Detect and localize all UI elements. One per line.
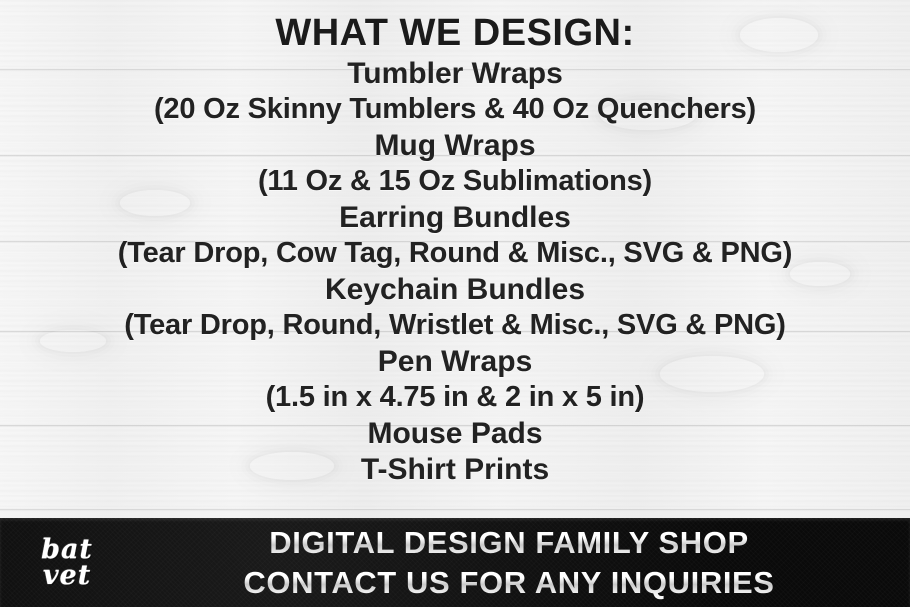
banner-contact-text: CONTACT US FOR ANY INQUIRIES xyxy=(243,563,774,603)
banner-shop-name: DIGITAL DESIGN FAMILY SHOP xyxy=(269,523,749,563)
service-detail-mug-sizes: (11 Oz & 15 Oz Sublimations) xyxy=(258,164,652,199)
service-line-mouse-pads: Mouse Pads xyxy=(367,416,542,453)
service-detail-keychain-types: (Tear Drop, Round, Wristlet & Misc., SVG… xyxy=(124,308,785,343)
service-line-tshirt-prints: T-Shirt Prints xyxy=(361,452,549,489)
service-detail-tumbler-sizes: (20 Oz Skinny Tumblers & 40 Oz Quenchers… xyxy=(154,92,756,127)
service-line-earring-bundles: Earring Bundles xyxy=(339,200,571,237)
poster: WHAT WE DESIGN: Tumbler Wraps (20 Oz Ski… xyxy=(0,0,910,607)
service-line-mug-wraps: Mug Wraps xyxy=(374,128,535,165)
service-line-keychain-bundles: Keychain Bundles xyxy=(325,272,585,309)
banner-text-block: DIGITAL DESIGN FAMILY SHOP CONTACT US FO… xyxy=(120,523,910,602)
page-title: WHAT WE DESIGN: xyxy=(275,14,634,54)
footer-banner: bat vet DIGITAL DESIGN FAMILY SHOP CONTA… xyxy=(0,518,910,607)
service-detail-earring-types: (Tear Drop, Cow Tag, Round & Misc., SVG … xyxy=(118,236,792,271)
brand-logo: bat vet xyxy=(0,537,120,588)
brand-logo-line-1: bat xyxy=(41,537,93,563)
service-detail-pen-sizes: (1.5 in x 4.75 in & 2 in x 5 in) xyxy=(266,380,645,415)
brand-logo-line-2: vet xyxy=(43,563,91,589)
service-line-tumbler-wraps: Tumbler Wraps xyxy=(347,56,563,93)
poster-content: WHAT WE DESIGN: Tumbler Wraps (20 Oz Ski… xyxy=(0,0,910,607)
service-line-pen-wraps: Pen Wraps xyxy=(378,344,533,381)
